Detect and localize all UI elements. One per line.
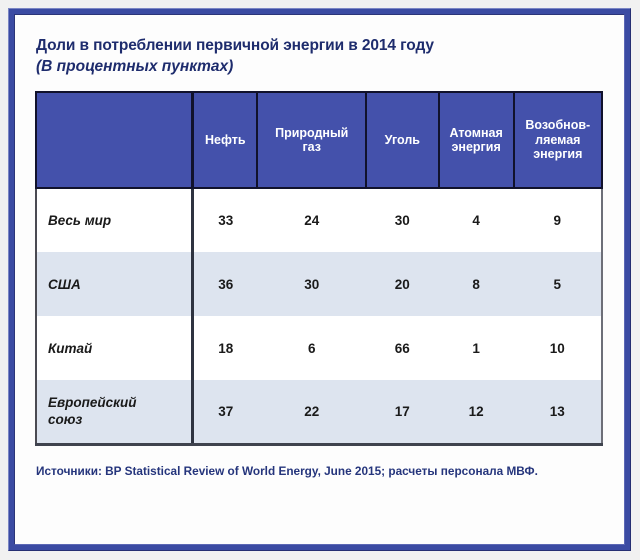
table-row: Весь мир 33 24 30 4 9 — [36, 188, 602, 252]
cell-world-coal: 30 — [366, 188, 439, 252]
table-header-row: Нефть Природный газ Уголь Атомная энерги… — [36, 92, 602, 188]
cell-china-nuclear: 1 — [439, 316, 514, 380]
column-header-coal-line-1: Уголь — [369, 133, 436, 148]
column-header-oil-line-1: Нефть — [196, 133, 254, 148]
table-header-corner — [36, 92, 193, 188]
cell-china-oil: 18 — [193, 316, 258, 380]
table-row: США 36 30 20 8 5 — [36, 252, 602, 316]
table-row: Европейский союз 37 22 17 12 13 — [36, 380, 602, 444]
cell-usa-coal: 20 — [366, 252, 439, 316]
cell-eu-coal: 17 — [366, 380, 439, 444]
source-note: Источники: BP Statistical Review of Worl… — [36, 463, 581, 479]
cell-eu-nuclear: 12 — [439, 380, 514, 444]
column-header-nuclear: Атомная энергия — [439, 92, 514, 188]
row-label-world: Весь мир — [36, 188, 193, 252]
title-line-primary: Доли в потреблении первичной энергии в 2… — [36, 36, 607, 56]
row-label-european-union: Европейский союз — [36, 380, 193, 444]
cell-usa-renewable: 5 — [514, 252, 602, 316]
row-label-usa: США — [36, 252, 193, 316]
column-header-coal: Уголь — [366, 92, 439, 188]
row-label-china: Китай — [36, 316, 193, 380]
row-label-european-union-line-1: Европейский — [48, 394, 187, 411]
page-background: Доли в потреблении первичной энергии в 2… — [0, 0, 640, 560]
cell-world-natural-gas: 24 — [257, 188, 366, 252]
cell-world-nuclear: 4 — [439, 188, 514, 252]
cell-usa-oil: 36 — [193, 252, 258, 316]
content-panel: Доли в потреблении первичной энергии в 2… — [14, 14, 625, 545]
column-header-natural-gas: Природный газ — [257, 92, 366, 188]
column-header-oil: Нефть — [193, 92, 258, 188]
decorative-blue-frame: Доли в потреблении первичной энергии в 2… — [8, 8, 631, 551]
column-header-renewable-line-1: Возобнов- — [517, 118, 599, 133]
column-header-nuclear-line-2: энергия — [442, 140, 511, 155]
table-row: Китай 18 6 66 1 10 — [36, 316, 602, 380]
column-header-natural-gas-line-1: Природный — [260, 126, 363, 141]
energy-shares-table: Нефть Природный газ Уголь Атомная энерги… — [35, 91, 603, 446]
cell-china-renewable: 10 — [514, 316, 602, 380]
cell-usa-nuclear: 8 — [439, 252, 514, 316]
column-header-natural-gas-line-2: газ — [260, 140, 363, 155]
cell-china-natural-gas: 6 — [257, 316, 366, 380]
cell-eu-renewable: 13 — [514, 380, 602, 444]
column-header-renewable: Возобнов- ляемая энергия — [514, 92, 602, 188]
cell-eu-oil: 37 — [193, 380, 258, 444]
cell-usa-natural-gas: 30 — [257, 252, 366, 316]
page-title: Доли в потреблении первичной энергии в 2… — [36, 36, 607, 77]
column-header-renewable-line-2: ляемая — [517, 133, 599, 148]
row-label-european-union-line-2: союз — [48, 411, 187, 428]
cell-world-renewable: 9 — [514, 188, 602, 252]
title-line-units: (В процентных пунктах) — [36, 56, 607, 77]
cell-eu-natural-gas: 22 — [257, 380, 366, 444]
column-header-nuclear-line-1: Атомная — [442, 126, 511, 141]
column-header-renewable-line-3: энергия — [517, 147, 599, 162]
cell-china-coal: 66 — [366, 316, 439, 380]
cell-world-oil: 33 — [193, 188, 258, 252]
